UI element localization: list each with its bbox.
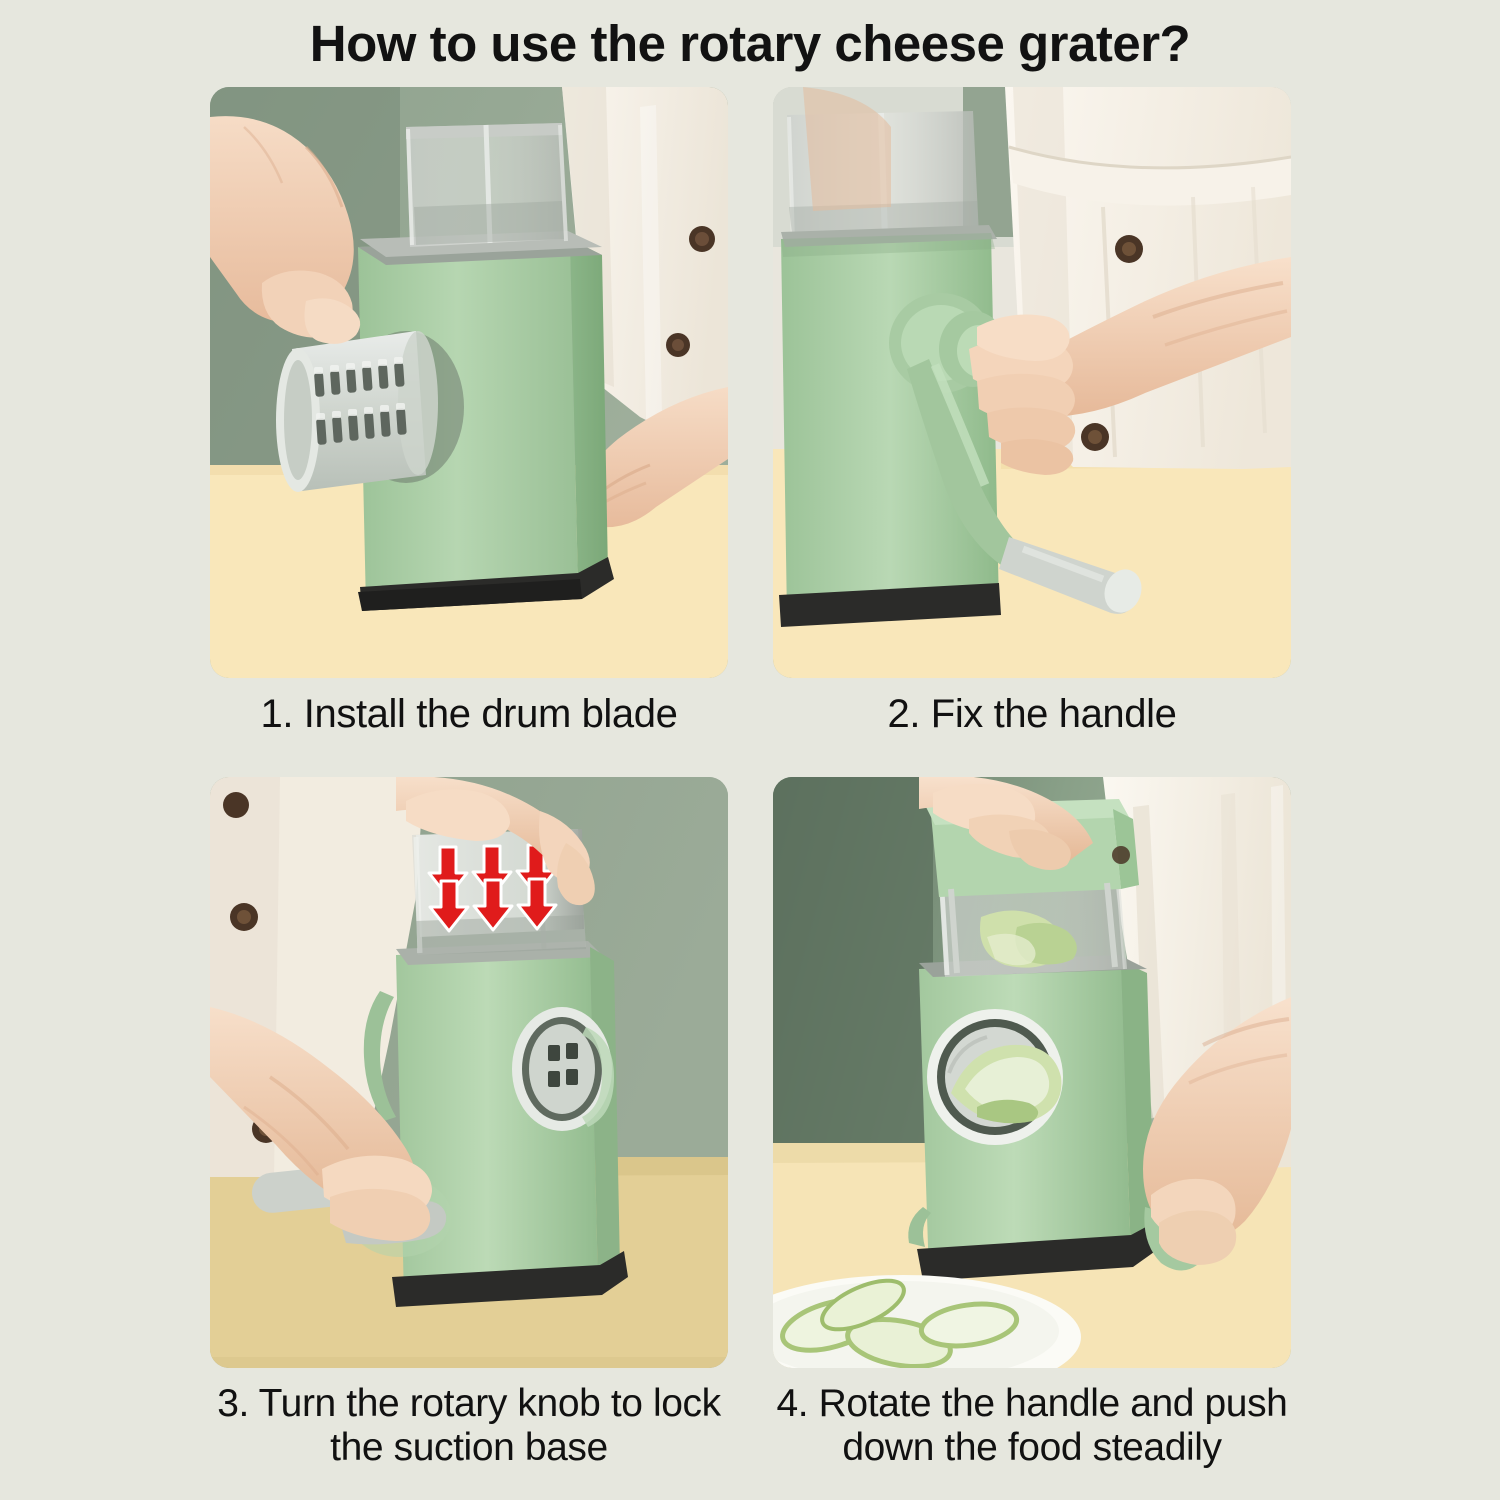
fix-handle-photo: [773, 87, 1291, 678]
step-card-1: 1. Install the drum blade: [210, 87, 728, 737]
step-card-2: 2. Fix the handle: [773, 87, 1291, 737]
lock-suction-base-photo: [210, 777, 728, 1368]
step-1-caption: 1. Install the drum blade: [210, 692, 728, 737]
drum-window-4: [927, 1009, 1063, 1145]
step-card-3: 3. Turn the rotary knob to lock the suct…: [210, 777, 728, 1469]
step-card-4: 4. Rotate the handle and push down the f…: [773, 777, 1291, 1469]
step-4-caption: 4. Rotate the handle and push down the f…: [773, 1382, 1291, 1469]
step-3-illustration: [210, 777, 728, 1368]
infographic-page: How to use the rotary cheese grater?: [0, 0, 1500, 1500]
page-title: How to use the rotary cheese grater?: [0, 14, 1500, 73]
drum-blade: [276, 331, 438, 492]
steps-grid: 1. Install the drum blade: [210, 87, 1292, 1477]
step-2-caption: 2. Fix the handle: [773, 692, 1291, 737]
red-down-arrows: [429, 845, 556, 931]
install-drum-blade-photo: [210, 87, 728, 678]
step-1-illustration: [210, 87, 728, 678]
step-4-illustration: [773, 777, 1291, 1368]
step-3-caption: 3. Turn the rotary knob to lock the suct…: [210, 1382, 728, 1469]
rotate-handle-photo: [773, 777, 1291, 1368]
step-2-illustration: [773, 87, 1291, 678]
